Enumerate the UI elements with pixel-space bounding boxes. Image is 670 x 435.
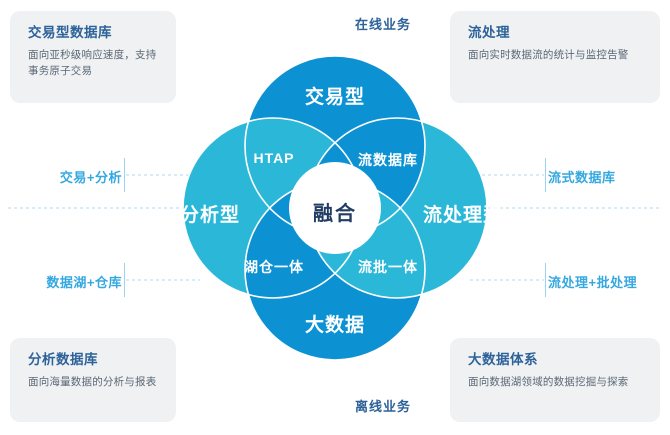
card-title: 分析数据库 [28,352,160,368]
side-tick-right-upper [545,158,546,192]
info-card-bigdata-system: 大数据体系 面向数据湖领域的数据挖掘与探索 [450,338,660,422]
side-label-transaction-analytics: 交易+分析 [60,167,122,186]
axis-caption-offline: 离线业务 [355,396,411,415]
side-tick-right-lower [545,263,546,297]
card-description: 面向实时数据流的统计与监控告警 [468,47,644,63]
card-description: 面向亚秒级响应速度，支持事务原子交易 [28,47,160,80]
side-label-stream-batch: 流处理+批处理 [548,272,637,291]
venn-center-circle [289,162,381,254]
side-label-lake-warehouse: 数据湖+仓库 [46,272,122,291]
side-tick-left-upper [124,158,125,192]
card-title: 交易型数据库 [28,25,160,41]
card-description: 面向海量数据的分析与报表 [28,374,160,390]
side-label-streaming-db: 流式数据库 [548,167,616,186]
info-card-stream-processing: 流处理 面向实时数据流的统计与监控告警 [450,11,660,103]
card-title: 流处理 [468,25,644,41]
card-title: 大数据体系 [468,352,644,368]
diagram-canvas: 交易型 大数据 分析型 流处理型 HTAP 流数据库 湖仓一体 流批一体 融合 … [0,0,670,435]
info-card-analytical-database: 分析数据库 面向海量数据的分析与报表 [10,338,176,422]
info-card-transactional-database: 交易型数据库 面向亚秒级响应速度，支持事务原子交易 [10,11,176,103]
side-tick-left-lower [124,263,125,297]
axis-caption-online: 在线业务 [355,14,411,33]
card-description: 面向数据湖领域的数据挖掘与探索 [468,374,644,390]
